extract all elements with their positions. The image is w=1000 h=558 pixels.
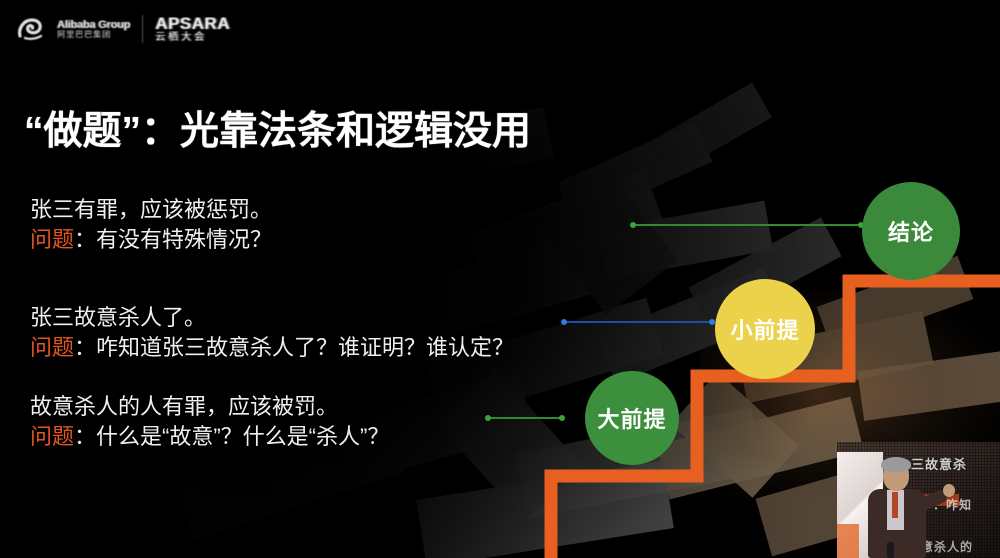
node-conclusion-label: 结论 <box>888 215 934 247</box>
argument-block-2: 张三故意杀人了。 问题：咋知道张三故意杀人了？谁证明？谁认定？ <box>30 303 680 364</box>
block-1-question-label: 问题 <box>30 227 74 252</box>
block-3-statement: 故意杀人的人有罪，应该被罚。 <box>30 392 500 422</box>
speaker-hand <box>943 484 955 497</box>
speaker-figure <box>865 460 941 558</box>
logo-divider <box>142 15 143 43</box>
block-3-question-label: 问题 <box>30 424 74 449</box>
node-minor-premise: 小前提 <box>715 279 815 379</box>
block-2-question-text: ：咋知道张三故意杀人了？谁证明？谁认定？ <box>74 335 514 360</box>
block-1-question-text: ：有没有特殊情况？ <box>74 227 272 252</box>
block-3-question-text: ：什么是“故意”？什么是“杀人”？ <box>74 424 389 449</box>
alibaba-logo-text: Alibaba Group 阿里巴巴集团 <box>57 20 130 39</box>
argument-block-3: 故意杀人的人有罪，应该被罚。 问题：什么是“故意”？什么是“杀人”？ <box>30 392 500 453</box>
slide-stage: Alibaba Group 阿里巴巴集团 APSARA 云栖大会 “做题”：光靠… <box>0 0 1000 558</box>
block-2-question-label: 问题 <box>30 335 74 360</box>
stage-panel-accent <box>837 524 859 558</box>
speaker-tie <box>892 492 898 518</box>
argument-block-1: 张三有罪，应该被惩罚。 问题：有没有特殊情况？ <box>30 195 630 256</box>
node-major-premise: 大前提 <box>585 371 679 465</box>
block-1-question: 问题：有没有特殊情况？ <box>30 225 630 255</box>
speaker-video-overlay[interactable]: 三故意杀 ：咋知 意杀人的 <box>837 442 1000 558</box>
block-2-question: 问题：咋知道张三故意杀人了？谁证明？谁认定？ <box>30 333 680 363</box>
block-2-statement: 张三故意杀人了。 <box>30 303 680 333</box>
apsara-logo-cn: 云栖大会 <box>155 33 230 44</box>
node-minor-premise-label: 小前提 <box>730 313 799 345</box>
slide-title: “做题”：光靠法条和逻辑没用 <box>24 100 531 156</box>
speaker-hair <box>881 457 911 472</box>
connector-line-conclusion <box>632 224 862 226</box>
alibaba-logo-cn: 阿里巴巴集团 <box>57 31 130 39</box>
node-major-premise-label: 大前提 <box>597 402 666 434</box>
alibaba-group-logo: Alibaba Group 阿里巴巴集团 <box>16 16 130 42</box>
node-conclusion: 结论 <box>862 182 960 280</box>
header-logos: Alibaba Group 阿里巴巴集团 APSARA 云栖大会 <box>16 6 230 52</box>
block-1-statement: 张三有罪，应该被惩罚。 <box>30 195 630 225</box>
apsara-logo-en: APSARA <box>155 15 230 33</box>
apsara-conference-logo: APSARA 云栖大会 <box>155 15 230 43</box>
block-3-question: 问题：什么是“故意”？什么是“杀人”？ <box>30 422 500 452</box>
alibaba-mark-icon <box>16 16 52 42</box>
alibaba-logo-en: Alibaba Group <box>57 20 130 31</box>
speaker-microphone <box>887 542 894 558</box>
